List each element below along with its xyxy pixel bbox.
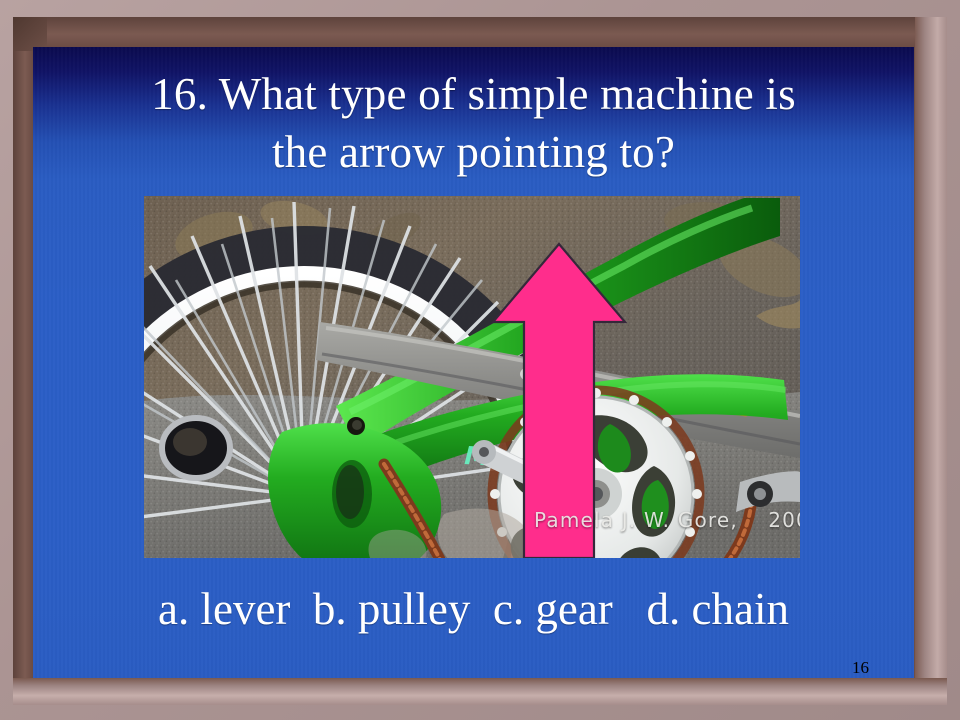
question-line-2: the arrow pointing to? [33,123,914,181]
frame-bevel-corner [13,17,47,51]
bicycle-photo-svg: Mongoose [144,196,800,558]
presentation-slide: 16. What type of simple machine is the a… [0,0,960,720]
frame-bevel-bottom [13,678,947,705]
question-line-1: 16. What type of simple machine is [33,65,914,123]
slide-number: 16 [852,658,869,678]
question-text: 16. What type of simple machine is the a… [33,65,914,181]
frame-bevel-right [915,17,947,705]
photo-watermark: Pamela J. W. Gore, 2007 [534,508,800,532]
bicycle-photo: Mongoose [144,196,800,558]
slide-canvas: 16. What type of simple machine is the a… [33,47,914,678]
frame-bevel-top [13,17,947,48]
answer-choices[interactable]: a. lever b. pulley c. gear d. chain [33,582,914,636]
frame-bevel-left [13,17,33,705]
